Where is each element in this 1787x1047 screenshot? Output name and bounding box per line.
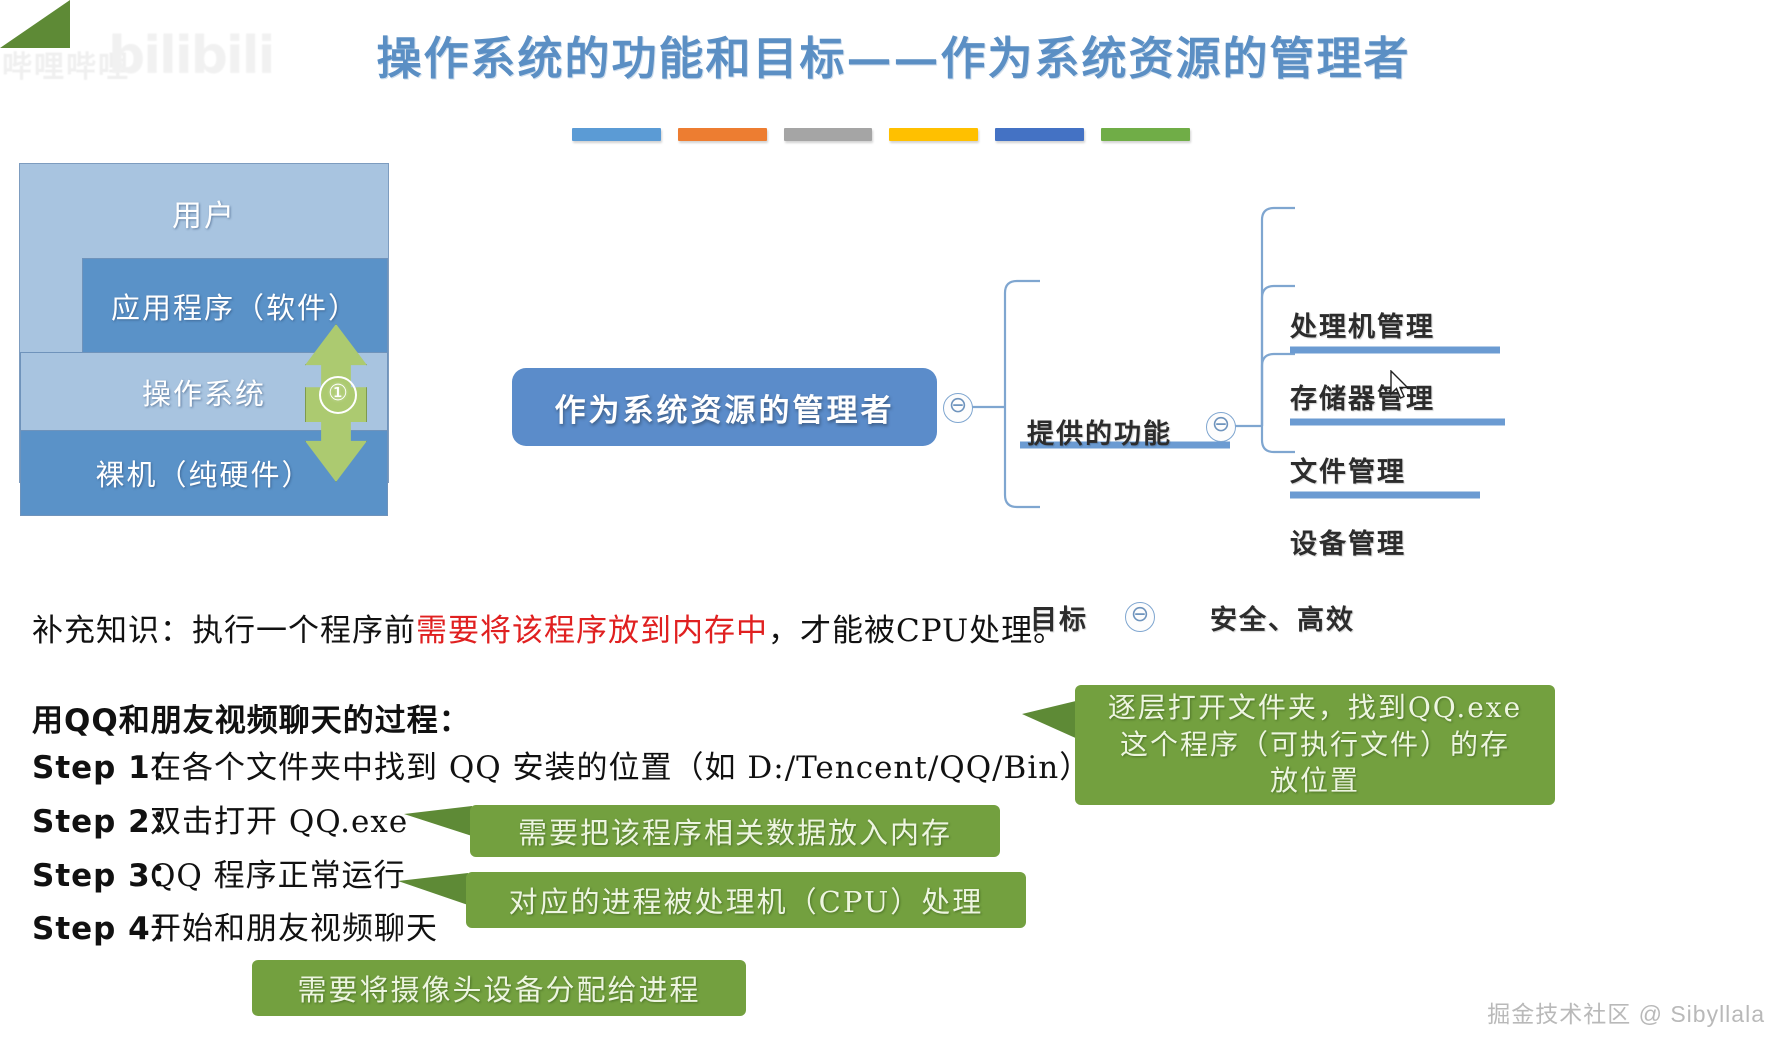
mindmap-leaf-file-management[interactable]: 文件管理 [1290, 450, 1406, 489]
annotation-badge-1: ① [319, 376, 357, 414]
step-row: Step 1：在各个文件夹中找到 QQ 安装的位置（如 D:/Tencent/Q… [32, 742, 1091, 787]
callout-find-qq: 逐层打开文件夹，找到QQ.exe 这个程序（可执行文件）的存 放位置 [1075, 685, 1555, 805]
callout-find-qq-line-1: 逐层打开文件夹，找到QQ.exe [1108, 690, 1522, 726]
step-2-key: Step 2： [32, 796, 150, 841]
note-prefix: 补充知识：执行一个程序前 [32, 613, 416, 649]
title-divider [572, 128, 1190, 146]
step-row: Step 2：双击打开 QQ.exe [32, 796, 408, 841]
step-3-text: QQ 程序正常运行 [150, 858, 406, 894]
mindmap-root-node[interactable]: 作为系统资源的管理者 [512, 368, 937, 446]
layer-user: 用户 [20, 164, 388, 262]
note-highlight: 需要将该程序放到内存中 [416, 613, 768, 649]
callout-camera: 需要将摄像头设备分配给进程 [252, 960, 746, 1016]
callout-find-qq-line-2: 这个程序（可执行文件）的存 [1120, 727, 1510, 763]
callout-find-qq-tail [1022, 700, 1080, 740]
note-suffix: ，才能被CPU处理。 [768, 613, 1065, 649]
supplementary-note: 补充知识：执行一个程序前需要将该程序放到内存中，才能被CPU处理。 [32, 605, 1065, 650]
callout-find-qq-line-3: 放位置 [1270, 763, 1360, 799]
qq-process-heading: 用QQ和朋友视频聊天的过程： [32, 695, 471, 740]
mindmap-leaf-safe-efficient[interactable]: 安全、高效 [1210, 598, 1355, 637]
double-arrow-annotation: ① [305, 324, 367, 482]
step-4-text: 开始和朋友视频聊天 [150, 911, 438, 947]
step-2-text: 双击打开 QQ.exe [150, 804, 408, 840]
mindmap-leaf-device-management[interactable]: 设备管理 [1290, 522, 1406, 561]
callout-memory: 需要把该程序相关数据放入内存 [470, 805, 1000, 857]
step-3-key: Step 3： [32, 850, 150, 895]
mindmap-leaf-processor-management[interactable]: 处理机管理 [1290, 305, 1435, 344]
mindmap-leaf-memory-management[interactable]: 存储器管理 [1290, 377, 1435, 416]
mindmap-branch-provided-functions[interactable]: 提供的功能 [1027, 412, 1172, 451]
divider-seg-5 [995, 128, 1084, 141]
mindmap: 作为系统资源的管理者 ⊖ 提供的功能 ⊖ 处理机管理 存储器管理 文件管理 设备… [500, 150, 1780, 530]
divider-seg-4 [889, 128, 978, 141]
step-row: Step 3：QQ 程序正常运行 [32, 850, 406, 895]
divider-seg-1 [572, 128, 661, 141]
callout-cpu: 对应的进程被处理机（CPU）处理 [466, 872, 1026, 928]
divider-seg-2 [678, 128, 767, 141]
step-row: Step 4：开始和朋友视频聊天 [32, 903, 438, 948]
callout-memory-tail [404, 806, 472, 836]
juejin-watermark: 掘金技术社区 @ Sibyllala [1487, 995, 1765, 1029]
mindmap-collapse-root-icon[interactable]: ⊖ [943, 393, 973, 423]
mindmap-collapse-goal-icon[interactable]: ⊖ [1125, 602, 1155, 632]
step-4-key: Step 4： [32, 903, 150, 948]
callout-cpu-tail [398, 873, 468, 905]
divider-seg-3 [784, 128, 873, 141]
mindmap-collapse-functions-icon[interactable]: ⊖ [1206, 412, 1236, 442]
page-title: 操作系统的功能和目标——作为系统资源的管理者 [0, 22, 1787, 87]
step-1-text: 在各个文件夹中找到 QQ 安装的位置（如 D:/Tencent/QQ/Bin） [150, 750, 1091, 786]
mindmap-connectors [500, 150, 1780, 530]
divider-seg-6 [1101, 128, 1190, 141]
step-1-key: Step 1： [32, 742, 150, 787]
